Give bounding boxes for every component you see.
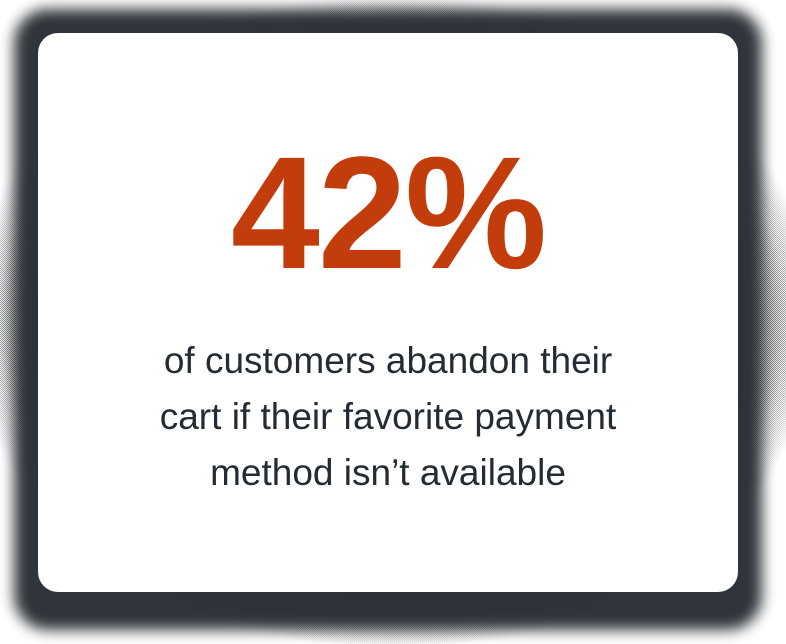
stat-card-screenshot: 42% of customers abandon their cart if t… xyxy=(0,0,786,644)
statistic-card: 42% of customers abandon their cart if t… xyxy=(38,33,738,592)
caption-line-2: cart if their favorite payment xyxy=(160,389,617,445)
caption-line-3: method isn’t available xyxy=(160,445,617,501)
statistic-caption: of customers abandon their cart if their… xyxy=(110,333,667,501)
statistic-value: 42% xyxy=(231,133,545,293)
caption-line-1: of customers abandon their xyxy=(160,333,617,389)
